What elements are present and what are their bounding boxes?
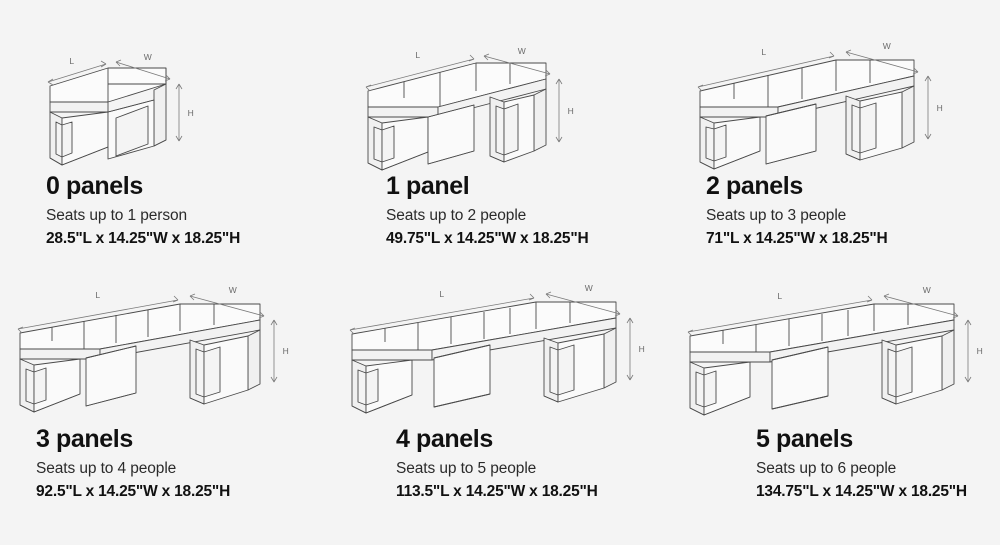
bench-diagram-0-panels: L W H: [40, 34, 380, 174]
bench-diagram-3-panels: L W H: [8, 282, 348, 422]
bench-size-grid: L W H 0 panels Seats up to 1 person 28.5…: [0, 0, 1000, 545]
card-seats: Seats up to 4 people: [36, 459, 340, 478]
card-seats: Seats up to 3 people: [706, 206, 1000, 225]
card-title: 5 panels: [756, 427, 1000, 452]
length-label: L: [777, 291, 782, 301]
card-dimensions: 28.5"L x 14.25"W x 18.25"H: [46, 229, 340, 248]
card-dimensions: 49.75"L x 14.25"W x 18.25"H: [386, 229, 680, 248]
bench-diagram-1-panel: L W H: [358, 34, 698, 174]
height-label: H: [568, 106, 575, 116]
bench-caption: 0 panels Seats up to 1 person 28.5"L x 1…: [46, 174, 340, 249]
bench-isometric-svg: L W H: [686, 34, 986, 174]
width-label: W: [229, 285, 238, 295]
bench-isometric-svg: L W H: [358, 34, 648, 174]
width-label: W: [518, 46, 527, 56]
card-seats: Seats up to 5 people: [396, 459, 680, 478]
card-title: 2 panels: [706, 174, 1000, 199]
length-label: L: [415, 50, 420, 60]
length-label: L: [69, 56, 74, 66]
card-dimensions: 134.75"L x 14.25"W x 18.25"H: [756, 482, 1000, 501]
bench-isometric-svg: L W H: [684, 282, 1000, 422]
card-seats: Seats up to 1 person: [46, 206, 340, 225]
width-label: W: [923, 285, 932, 295]
card-title: 3 panels: [36, 427, 340, 452]
bench-caption: 3 panels Seats up to 4 people 92.5"L x 1…: [36, 427, 340, 502]
card-title: 4 panels: [396, 427, 680, 452]
bench-diagram-5-panels: L W H: [684, 282, 1000, 422]
length-label: L: [439, 289, 444, 299]
height-label: H: [188, 108, 195, 118]
height-label: H: [937, 103, 944, 113]
height-label: H: [283, 346, 290, 356]
bench-isometric-svg: L W H: [40, 34, 240, 174]
card-dimensions: 92.5"L x 14.25"W x 18.25"H: [36, 482, 340, 501]
card-dimensions: 113.5"L x 14.25"W x 18.25"H: [396, 482, 680, 501]
bench-diagram-2-panels: L W H: [686, 34, 1000, 174]
bench-diagram-4-panels: L W H: [344, 282, 684, 422]
bench-card-2-panels[interactable]: L W H 2 panels Seats up to 3 people 71"L…: [680, 0, 1000, 272]
bench-caption: 5 panels Seats up to 6 people 134.75"L x…: [756, 427, 1000, 502]
bench-card-4-panels[interactable]: L W H 4 panels Seats up to 5 people 113.…: [340, 272, 680, 545]
length-label: L: [95, 290, 100, 300]
bench-card-1-panel[interactable]: L W H 1 panel Seats up to 2 people 49.75…: [340, 0, 680, 272]
height-label: H: [977, 346, 984, 356]
bench-isometric-svg: L W H: [344, 282, 674, 422]
bench-card-3-panels[interactable]: L W H 3 panels Seats up to 4 people 92.5…: [0, 272, 340, 545]
bench-caption: 2 panels Seats up to 3 people 71"L x 14.…: [706, 174, 1000, 249]
width-label: W: [585, 283, 594, 293]
length-label: L: [761, 47, 766, 57]
bench-isometric-svg: L W H: [8, 282, 328, 422]
bench-card-0-panels[interactable]: L W H 0 panels Seats up to 1 person 28.5…: [0, 0, 340, 272]
width-label: W: [883, 41, 892, 51]
bench-caption: 4 panels Seats up to 5 people 113.5"L x …: [396, 427, 680, 502]
height-label: H: [639, 344, 646, 354]
card-seats: Seats up to 2 people: [386, 206, 680, 225]
card-title: 1 panel: [386, 174, 680, 199]
card-dimensions: 71"L x 14.25"W x 18.25"H: [706, 229, 1000, 248]
bench-card-5-panels[interactable]: L W H 5 panels Seats up to 6 people 134.…: [680, 272, 1000, 545]
bench-caption: 1 panel Seats up to 2 people 49.75"L x 1…: [386, 174, 680, 249]
card-seats: Seats up to 6 people: [756, 459, 1000, 478]
card-title: 0 panels: [46, 174, 340, 199]
width-label: W: [144, 52, 153, 62]
